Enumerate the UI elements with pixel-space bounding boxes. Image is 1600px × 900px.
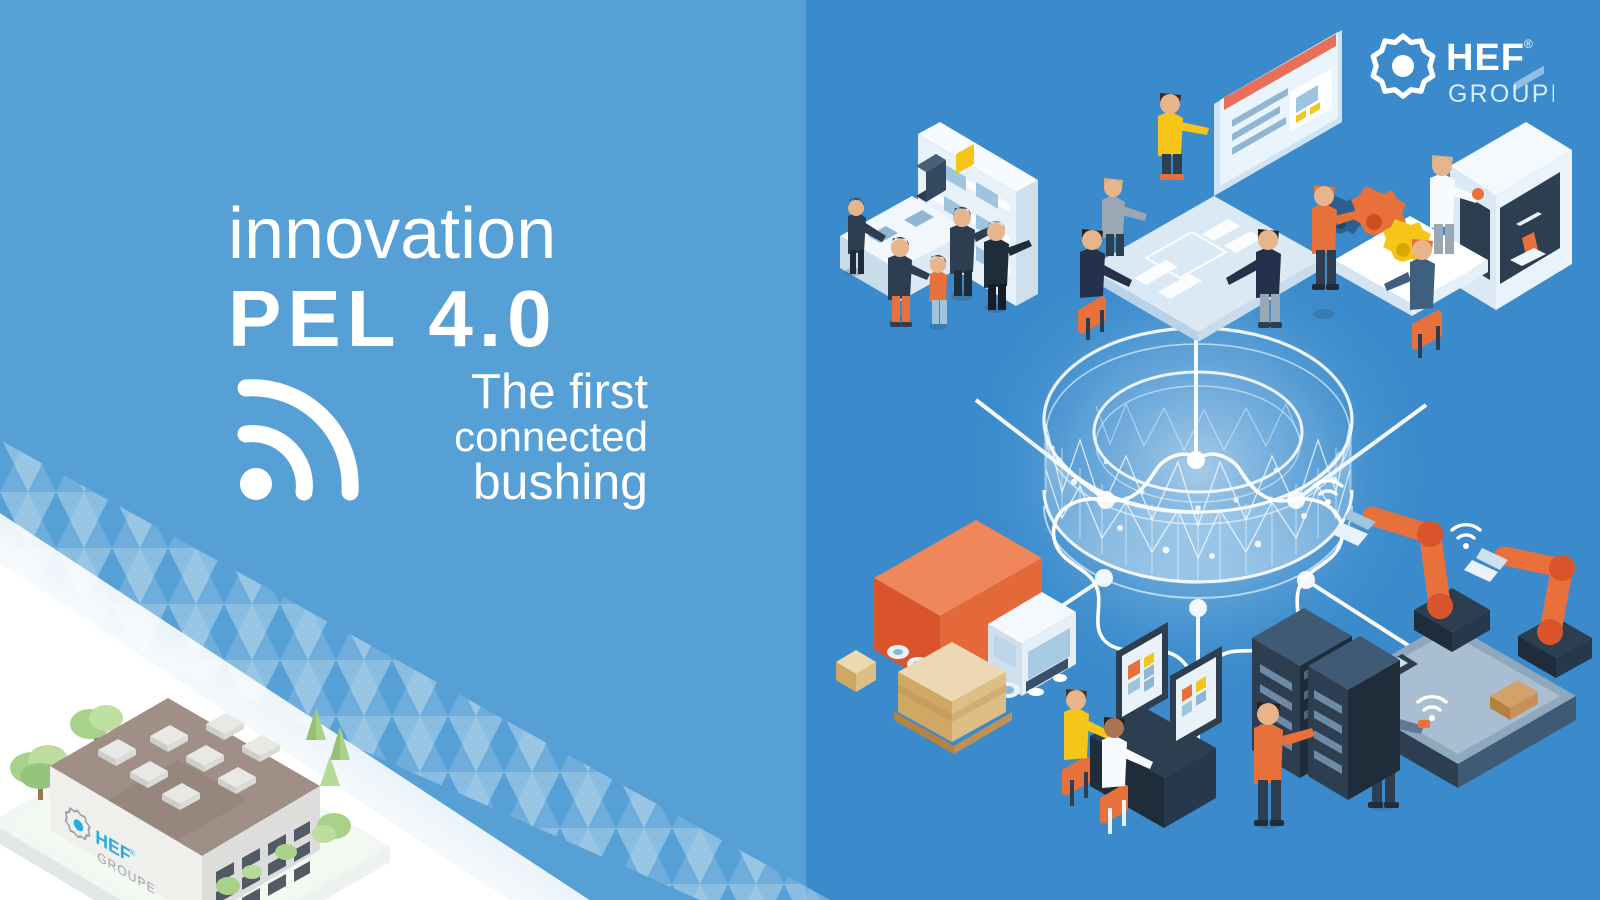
headline-innovation: innovation [228, 198, 648, 270]
wifi-icon-robot-2 [1452, 525, 1480, 549]
isometric-hef-building: HEF ® GROUPE [0, 590, 430, 900]
retail-showroom-scene [840, 122, 1038, 330]
poster-canvas: HEF ® GROUPE innovation PEL 4.0 [0, 0, 1600, 900]
person-yellow-presenter [1158, 93, 1209, 180]
person-child-orange [929, 255, 947, 330]
headline-pel: PEL 4.0 [228, 276, 648, 362]
small-box [836, 650, 876, 692]
wifi-signal-icon [232, 368, 372, 508]
connected-ecosystem-diagram [806, 0, 1600, 900]
